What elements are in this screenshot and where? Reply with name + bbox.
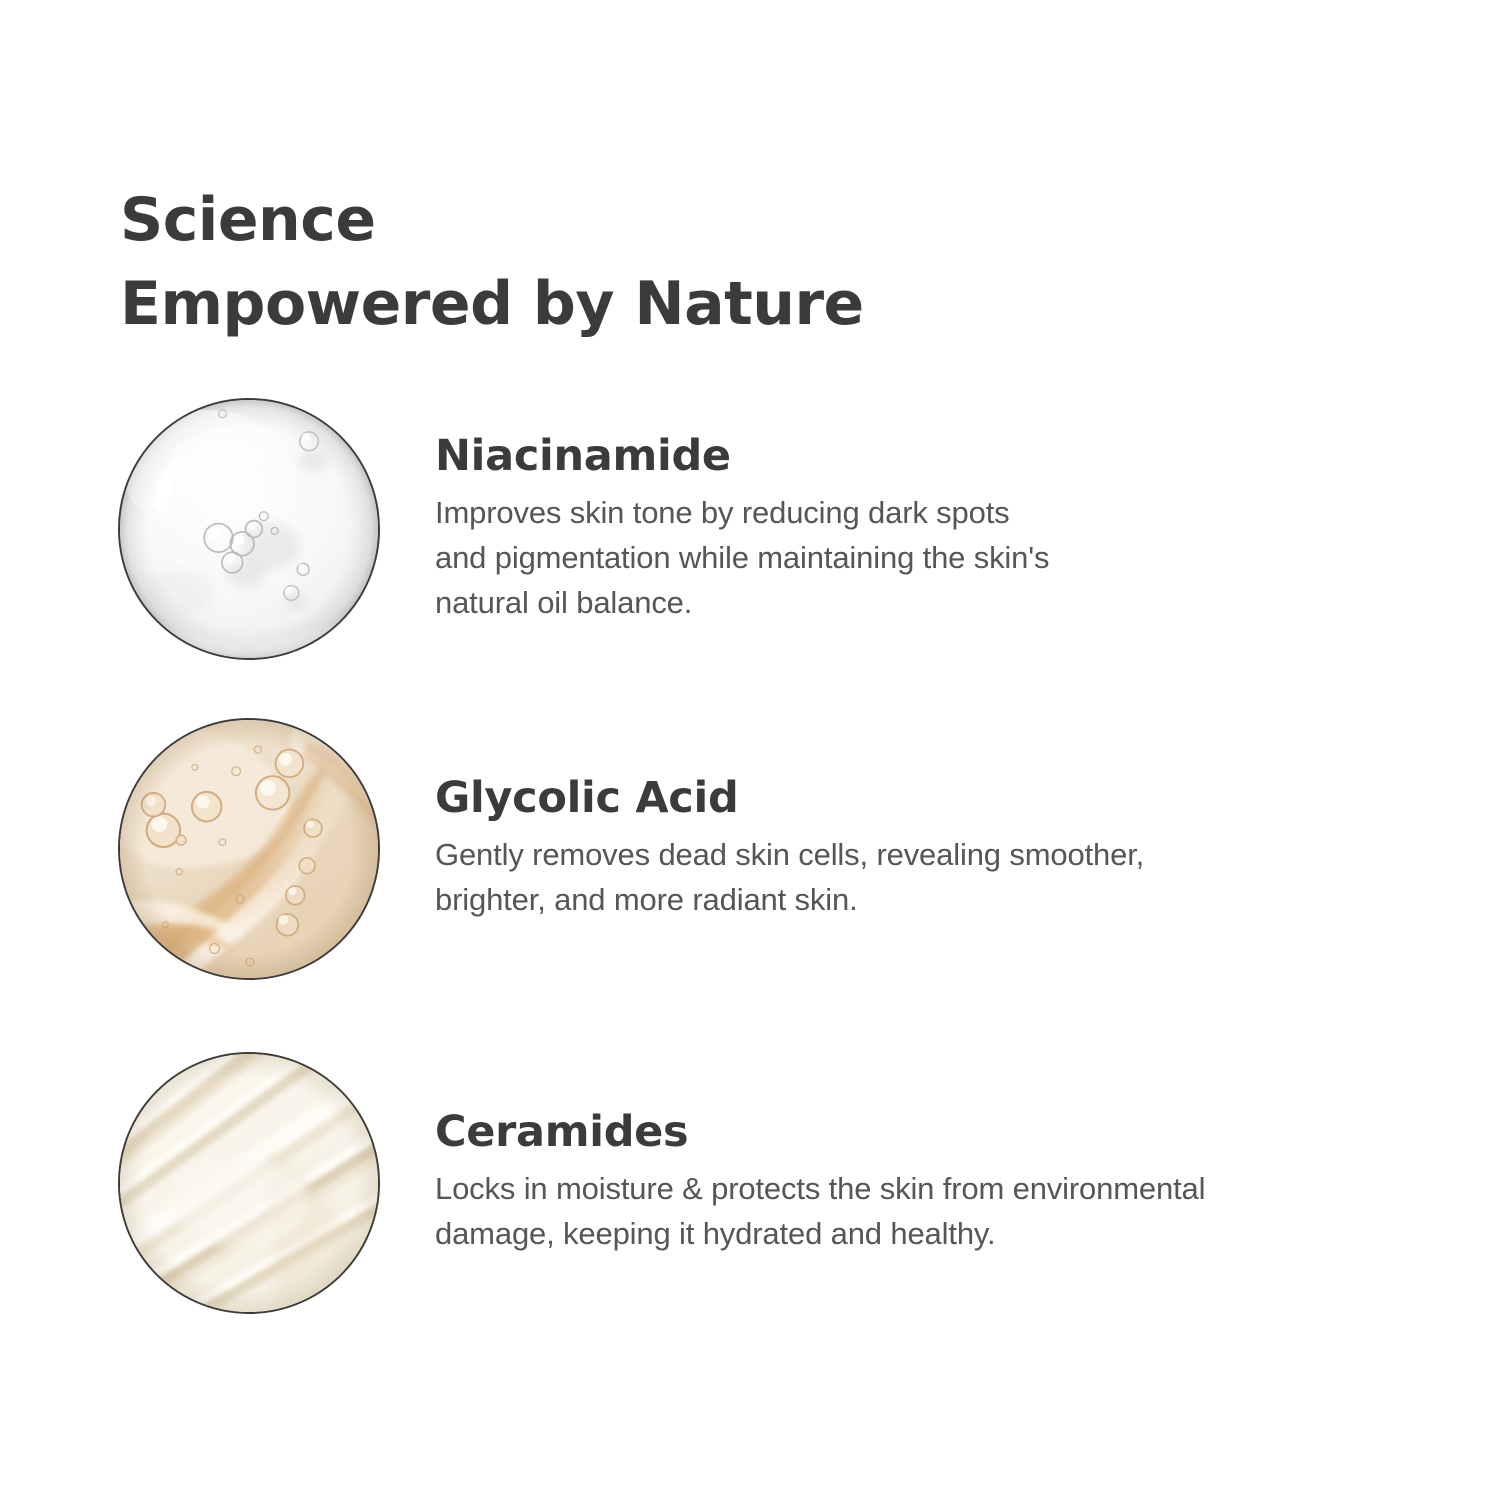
product-ingredients-infographic: Science Empowered by Nature — [0, 0, 1500, 1500]
ingredient-item-niacinamide: Niacinamide Improves skin tone by reduci… — [118, 398, 1458, 660]
ingredient-text-block: Glycolic Acid Gently removes dead skin c… — [380, 772, 1458, 926]
amber-liquid-swatch-icon — [118, 718, 380, 980]
clear-gel-swatch-icon — [118, 398, 380, 660]
ingredient-description: Improves skin tone by reducing dark spot… — [435, 490, 1458, 625]
ingredient-item-ceramides: Ceramides Locks in moisture & protects t… — [118, 1052, 1458, 1314]
ingredient-title: Niacinamide — [435, 430, 1458, 482]
ingredient-item-glycolic-acid: Glycolic Acid Gently removes dead skin c… — [118, 718, 1458, 980]
cream-texture-swatch-icon — [118, 1052, 380, 1314]
ingredient-title: Glycolic Acid — [435, 772, 1458, 824]
ingredient-description: Gently removes dead skin cells, revealin… — [435, 832, 1458, 922]
ingredient-text-block: Ceramides Locks in moisture & protects t… — [380, 1106, 1458, 1260]
page-title: Science Empowered by Nature — [120, 178, 1220, 346]
ingredient-title: Ceramides — [435, 1106, 1458, 1158]
ingredient-text-block: Niacinamide Improves skin tone by reduci… — [380, 430, 1458, 629]
ingredient-description: Locks in moisture & protects the skin fr… — [435, 1166, 1458, 1256]
